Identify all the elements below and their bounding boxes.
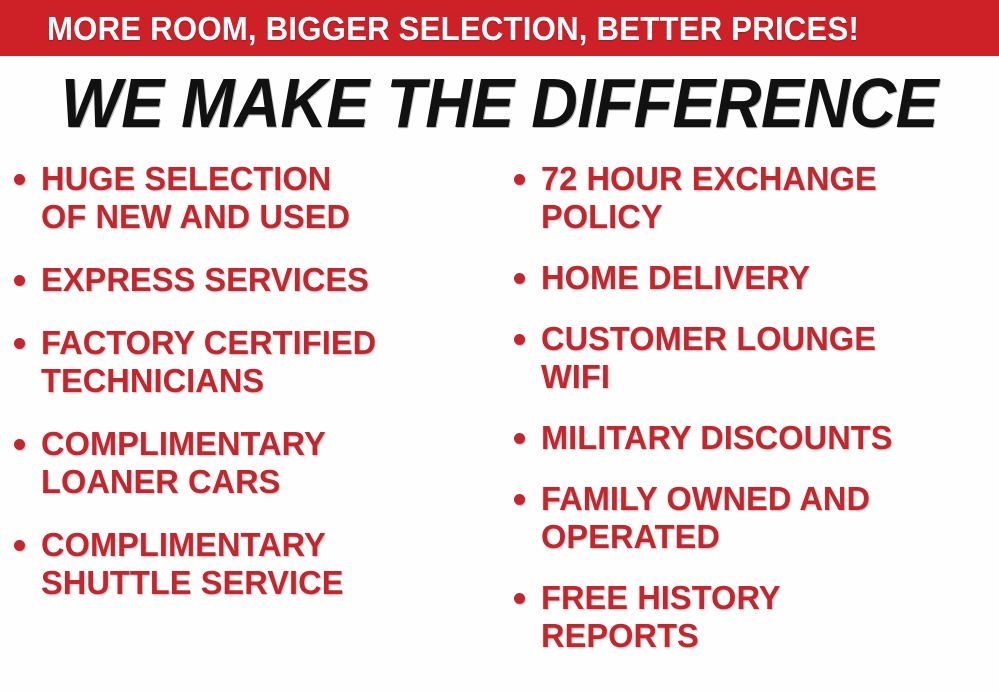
benefits-columns: HUGE SELECTION OF NEW AND USED EXPRESS S… [0,160,999,692]
top-banner-text: MORE ROOM, BIGGER SELECTION, BETTER PRIC… [47,12,859,45]
list-item: CUSTOMER LOUNGE WIFI [514,320,999,396]
bullet-dot-icon [14,526,41,551]
list-item: COMPLIMENTARY SHUTTLE SERVICE [14,526,504,602]
page-title: WE MAKE THE DIFFERENCE [40,66,959,140]
list-item: COMPLIMENTARY LOANER CARS [14,425,504,501]
benefits-column-left: HUGE SELECTION OF NEW AND USED EXPRESS S… [14,160,504,627]
bullet-dot-icon [14,425,41,450]
list-item-label: CUSTOMER LOUNGE WIFI [541,320,992,396]
top-banner: MORE ROOM, BIGGER SELECTION, BETTER PRIC… [0,0,999,56]
list-item: FACTORY CERTIFIED TECHNICIANS [14,324,504,400]
list-item-label: COMPLIMENTARY LOANER CARS [41,425,497,501]
bullet-dot-icon [514,579,541,604]
list-item-label: EXPRESS SERVICES [41,261,497,299]
bullet-dot-icon [14,160,41,185]
list-item: HOME DELIVERY [514,259,999,297]
list-item-label: FAMILY OWNED AND OPERATED [541,480,992,556]
bullet-dot-icon [514,419,541,444]
list-item-label: HUGE SELECTION OF NEW AND USED [41,160,497,236]
bullet-dot-icon [514,320,541,345]
list-item-label: MILITARY DISCOUNTS [541,419,992,457]
list-item-label: HOME DELIVERY [541,259,992,297]
list-item: FREE HISTORY REPORTS [514,579,999,655]
bullet-dot-icon [514,259,541,284]
list-item-label: FREE HISTORY REPORTS [541,579,992,655]
list-item: 72 HOUR EXCHANGE POLICY [514,160,999,236]
bullet-dot-icon [514,480,541,505]
list-item: EXPRESS SERVICES [14,261,504,299]
benefits-column-right: 72 HOUR EXCHANGE POLICY HOME DELIVERY CU… [514,160,999,678]
list-item: MILITARY DISCOUNTS [514,419,999,457]
list-item-label: 72 HOUR EXCHANGE POLICY [541,160,992,236]
list-item-label: FACTORY CERTIFIED TECHNICIANS [41,324,497,400]
bullet-dot-icon [14,261,41,286]
list-item: FAMILY OWNED AND OPERATED [514,480,999,556]
list-item: HUGE SELECTION OF NEW AND USED [14,160,504,236]
bullet-dot-icon [514,160,541,185]
promo-poster: MORE ROOM, BIGGER SELECTION, BETTER PRIC… [0,0,999,692]
list-item-label: COMPLIMENTARY SHUTTLE SERVICE [41,526,497,602]
bullet-dot-icon [14,324,41,349]
